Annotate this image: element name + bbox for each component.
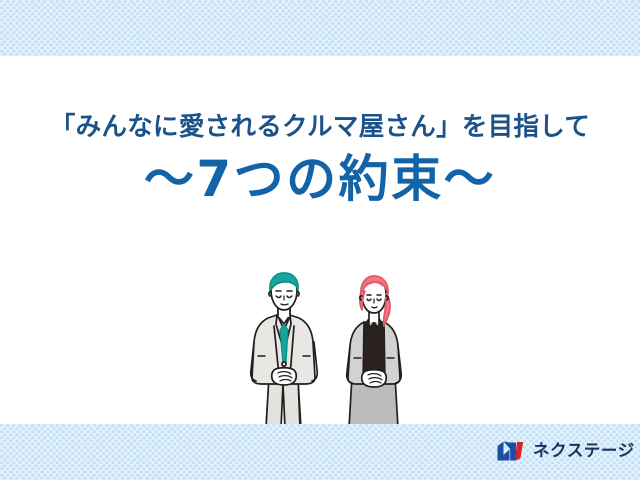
brand-logo: ネクステージ: [496, 438, 635, 464]
top-dot-band: [0, 0, 640, 56]
promo-slide: 「みんなに愛されるクルマ屋さん」を目指して 〜7つの約束〜: [0, 0, 640, 480]
nextage-n-logo-icon: [496, 440, 526, 462]
brand-wordmark: ネクステージ: [533, 440, 635, 462]
staff-illustration-svg: [238, 272, 422, 428]
headline-block: 「みんなに愛されるクルマ屋さん」を目指して 〜7つの約束〜: [0, 112, 640, 208]
headline-secondary: 〜7つの約束〜: [0, 151, 640, 208]
staff-illustration: [238, 272, 422, 428]
headline-primary: 「みんなに愛されるクルマ屋さん」を目指して: [0, 112, 640, 142]
